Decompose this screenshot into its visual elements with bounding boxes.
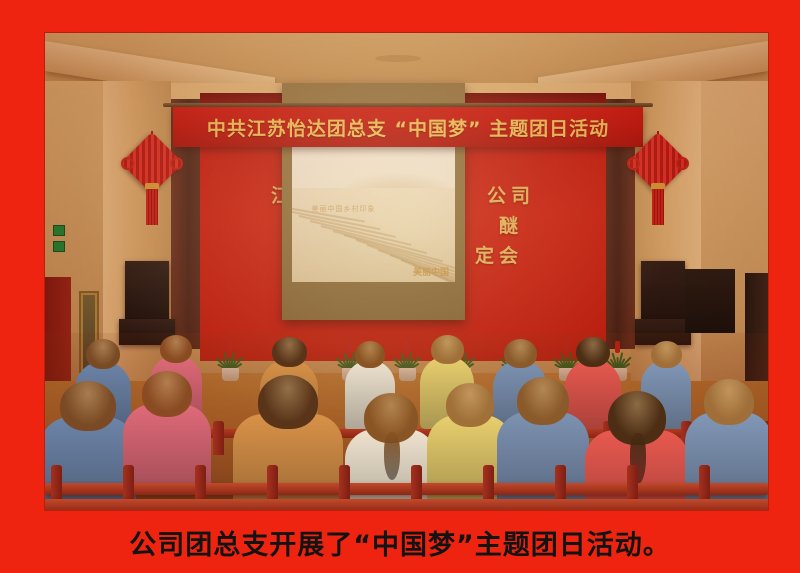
knot-loop-left xyxy=(627,157,640,170)
exit-sign-icon-2 xyxy=(53,241,65,252)
bench-post xyxy=(213,421,224,455)
knot-loop-right xyxy=(170,157,183,170)
attendee-head xyxy=(142,371,192,417)
exit-sign-icon xyxy=(53,225,65,236)
attendee-head xyxy=(355,341,385,368)
attendee-head xyxy=(160,335,192,363)
attendee-head xyxy=(60,381,116,431)
wall-panel-right xyxy=(685,269,735,333)
knot-loop-left xyxy=(121,157,134,170)
event-banner: 中共江苏怡达团总支 “中国梦” 主题团日活动 xyxy=(173,107,643,147)
audience-area xyxy=(45,333,768,510)
bench-table-foreground xyxy=(45,499,768,510)
attendee-tan-jacket xyxy=(233,375,343,499)
loudspeaker-left-upper xyxy=(125,261,169,323)
attendee-head xyxy=(504,339,537,368)
attendee-ponytail xyxy=(384,432,400,480)
ceiling-vent xyxy=(375,55,421,62)
attendee-blue-shirt-2 xyxy=(497,377,589,495)
bench-table-front xyxy=(45,483,768,495)
knot-tassel xyxy=(652,189,664,225)
attendee-head xyxy=(272,337,307,367)
attendee-head xyxy=(576,337,610,367)
attendee-head xyxy=(704,379,754,425)
event-banner-text: 中共江苏怡达团总支 “中国梦” 主题团日活动 xyxy=(207,114,609,141)
attendee-head xyxy=(258,375,318,429)
attendee-blue-shirt-3 xyxy=(685,379,768,495)
knot-tassel xyxy=(146,189,158,225)
screen-logo: 美丽中国 xyxy=(413,265,449,278)
loudspeaker-right-upper xyxy=(641,261,685,323)
attendee-head xyxy=(446,383,494,427)
poster-caption: 公司团总支开展了“中国梦”主题团日活动。 xyxy=(0,512,800,573)
attendee-head xyxy=(517,377,569,425)
knot-loop-right xyxy=(676,157,689,170)
screen-caption-text: 美丽中国乡村印象 xyxy=(312,204,376,214)
poster-root: 江苏 公司 丙二 醚 新产品 定会 美丽中国乡村印象 美丽中国 中共江苏怡达团总… xyxy=(0,0,800,573)
meeting-hall-photograph: 江苏 公司 丙二 醚 新产品 定会 美丽中国乡村印象 美丽中国 中共江苏怡达团总… xyxy=(45,33,768,510)
attendee-head xyxy=(651,341,682,368)
poster-caption-text: 公司团总支开展了“中国梦”主题团日活动。 xyxy=(129,523,671,562)
attendee-head xyxy=(431,335,464,364)
attendee-head xyxy=(86,339,120,369)
